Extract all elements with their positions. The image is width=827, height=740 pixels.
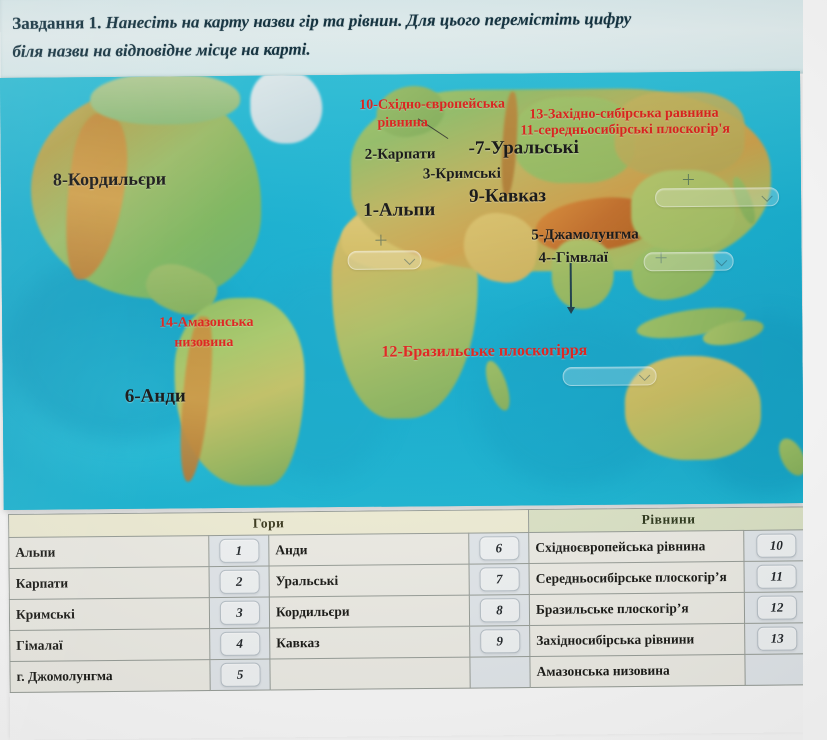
world-physical-map[interactable]: 8-Кордильєри 10-Східно-європейська рівни… [0, 71, 804, 510]
mountain-name-right: Уральські [269, 564, 469, 597]
map-marker-eurasia[interactable] [683, 174, 694, 185]
number-cell-right[interactable] [470, 656, 530, 688]
label-12-brazilian-plateau[interactable]: 12-Бразильське плоскогірря [381, 342, 587, 362]
plain-name: Західносибірська рівнини [530, 623, 745, 656]
label-6-andes[interactable]: 6-Анди [125, 385, 186, 407]
draggable-number[interactable]: 2 [219, 570, 259, 594]
chevron-down-icon [404, 254, 415, 265]
label-2-carpathians[interactable]: 2-Карпати [365, 146, 436, 163]
chevron-down-icon [761, 191, 772, 202]
draggable-number[interactable]: 11 [757, 564, 797, 588]
map-marker-africa[interactable] [375, 235, 386, 246]
page-right-margin [803, 0, 827, 740]
draggable-number[interactable]: 12 [757, 595, 797, 619]
chevron-down-icon [716, 255, 727, 266]
label-14-amazon-lowland-line2[interactable]: низовина [174, 335, 233, 351]
label-1-alps[interactable]: 1-Альпи [363, 199, 435, 221]
number-cell-plain[interactable]: 11 [744, 561, 809, 593]
instruction-text-2: біля назви на відповідне місце на карті. [12, 40, 310, 62]
screenshot-root: Завдання 1. Нанесіть на карту назви гір … [0, 0, 827, 740]
landmass-greenland [250, 71, 323, 144]
plain-name: Східноєвропейська рівнина [529, 530, 744, 563]
draggable-number[interactable]: 7 [479, 567, 519, 591]
mountain-name-right: Кордильєри [269, 595, 469, 628]
number-cell-left[interactable]: 2 [209, 566, 269, 598]
header-plains: Рівнини [528, 507, 808, 533]
map-select-africa[interactable] [348, 250, 422, 270]
label-4-himalayas[interactable]: 4--Гімвлаї [539, 250, 609, 267]
number-cell-plain[interactable]: 13 [745, 623, 810, 655]
number-cell-plain[interactable]: 10 [744, 530, 809, 562]
label-8-cordilleras[interactable]: 8-Кордильєри [53, 169, 166, 190]
draggable-number[interactable]: 6 [479, 536, 519, 560]
mountain-name-left: Карпати [9, 567, 209, 600]
plain-name: Середньосибірське плоскогір’я [529, 561, 744, 594]
mountain-name-left: Гімалаї [10, 629, 210, 662]
map-canvas: 8-Кордильєри 10-Східно-європейська рівни… [0, 71, 804, 510]
label-5-chomolungma[interactable]: 5-Джамолунгма [531, 226, 638, 244]
mountain-name-left: Кримські [9, 598, 209, 631]
number-cell-left[interactable]: 1 [209, 535, 269, 567]
chevron-down-icon [639, 370, 650, 381]
number-cell-left[interactable]: 4 [210, 628, 270, 660]
mountain-name-right: Анди [269, 533, 469, 566]
instruction-line-1: Завдання 1. Нанесіть на карту назви гір … [12, 9, 631, 34]
number-cell-right[interactable]: 7 [469, 564, 529, 596]
draggable-number[interactable]: 9 [480, 629, 520, 653]
number-cell-left[interactable]: 3 [209, 597, 269, 629]
draggable-number[interactable]: 3 [219, 601, 259, 625]
draggable-number[interactable]: 8 [479, 598, 519, 622]
label-13-west-siberian-plain[interactable]: 13-Західно-сибірська равнина [529, 106, 718, 123]
plain-name: Бразильське плоскогір’я [529, 592, 744, 625]
label-7-urals[interactable]: -7-Уральські [469, 137, 579, 159]
mountains-plains-table: Гори Рівнини Альпи 1 Анди 6 Східноєвропе… [8, 506, 810, 693]
table-row: г. Джомолунгма 5 Амазонська низовина [10, 654, 810, 693]
mountain-name-right: Кавказ [270, 626, 470, 659]
draggable-number[interactable]: 1 [219, 539, 259, 563]
map-select-indochina[interactable] [644, 252, 734, 272]
label-14-amazon-lowland-line1[interactable]: 14-Амазонська [159, 315, 253, 331]
draggable-number[interactable]: 4 [220, 632, 260, 656]
draggable-number[interactable]: 10 [756, 533, 796, 557]
instruction-banner: Завдання 1. Нанесіть на карту назви гір … [0, 0, 813, 80]
task-label: Завдання 1. [12, 13, 101, 33]
draggable-number[interactable]: 5 [220, 663, 260, 687]
mountain-name-left: г. Джомолунгма [10, 660, 210, 693]
number-cell-plain[interactable] [745, 654, 810, 686]
number-cell-plain[interactable]: 12 [744, 592, 809, 624]
label-10-east-european-plain-line1[interactable]: 10-Східно-європейська [359, 97, 505, 114]
draggable-number[interactable]: 13 [757, 626, 797, 650]
label-3-crimean[interactable]: 3-Кримські [423, 166, 501, 183]
number-cell-right[interactable]: 9 [470, 625, 530, 657]
mountain-name-left: Альпи [9, 536, 209, 569]
map-select-eurasia-east[interactable] [655, 187, 779, 207]
instruction-text-1: Нанесіть на карту назви гір та рівнин. Д… [105, 9, 631, 32]
number-cell-right[interactable]: 6 [469, 533, 529, 565]
number-cell-left[interactable]: 5 [210, 659, 270, 691]
landmass-canadian-arctic [90, 72, 240, 125]
map-select-australia[interactable] [563, 366, 657, 386]
label-10-east-european-plain-line2[interactable]: рівнина [377, 115, 428, 131]
mountain-name-right [270, 657, 470, 690]
label-9-caucasus[interactable]: 9-Кавказ [469, 185, 546, 207]
number-cell-right[interactable]: 8 [469, 594, 529, 626]
answers-table: Гори Рівнини Альпи 1 Анди 6 Східноєвропе… [8, 506, 810, 740]
arrow-himalayas-pointer [570, 263, 572, 309]
plain-name: Амазонська низовина [530, 654, 745, 687]
